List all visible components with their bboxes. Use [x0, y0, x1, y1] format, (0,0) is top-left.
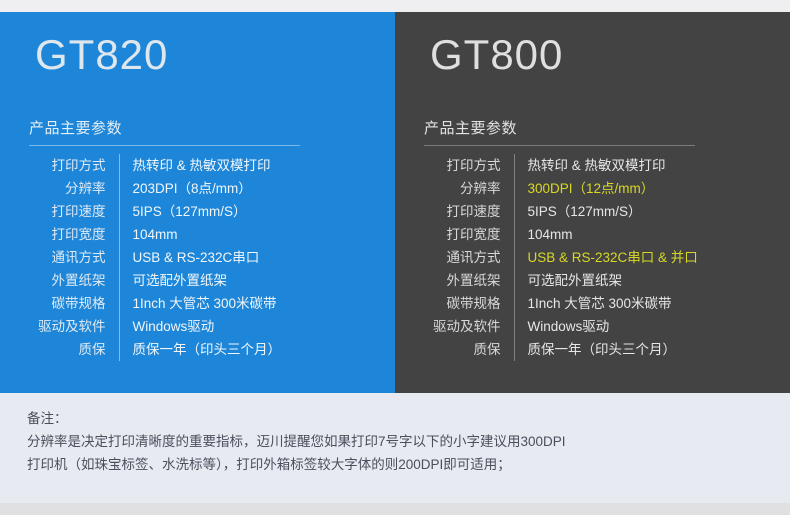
spec-row: 通讯方式USB & RS-232C串口 & 并口: [424, 246, 764, 269]
spec-value: USB & RS-232C串口: [119, 246, 369, 269]
notes-body: 备注： 分辨率是决定打印清晰度的重要指标，迈川提醒您如果打印7号字以下的小字建议…: [27, 407, 566, 476]
spec-row: 外置纸架可选配外置纸架: [424, 269, 764, 292]
spec-key: 分辨率: [424, 177, 514, 200]
spec-key: 通讯方式: [29, 246, 119, 269]
comparison-spec-page: GT820 产品主要参数 打印方式热转印 & 热敏双模打印分辨率203DPI（8…: [0, 0, 790, 515]
spec-row: 质保质保一年（印头三个月）: [424, 338, 764, 361]
spec-key: 打印速度: [424, 200, 514, 223]
spec-row: 分辨率203DPI（8点/mm）: [29, 177, 369, 200]
spec-key: 驱动及软件: [424, 315, 514, 338]
spec-value: 1Inch 大管芯 300米碳带: [514, 292, 764, 315]
spec-value: 可选配外置纸架: [119, 269, 369, 292]
spec-row: 外置纸架可选配外置纸架: [29, 269, 369, 292]
spec-key: 外置纸架: [29, 269, 119, 292]
spec-key: 外置纸架: [424, 269, 514, 292]
notes-section: 迈川条码 盗图必究 备注： 分辨率是决定打印清晰度的重要指标，迈川提醒您如果打印…: [0, 393, 790, 503]
spec-row: 通讯方式USB & RS-232C串口: [29, 246, 369, 269]
spec-row: 分辨率300DPI（12点/mm）: [424, 177, 764, 200]
spec-key: 分辨率: [29, 177, 119, 200]
spec-row: 打印宽度104mm: [424, 223, 764, 246]
spec-value: 可选配外置纸架: [514, 269, 764, 292]
spec-value: 5IPS（127mm/S）: [119, 200, 369, 223]
spec-row: 驱动及软件Windows驱动: [29, 315, 369, 338]
spec-key: 打印宽度: [29, 223, 119, 246]
spec-key: 质保: [29, 338, 119, 361]
panel-gt820: GT820 产品主要参数 打印方式热转印 & 热敏双模打印分辨率203DPI（8…: [0, 12, 395, 393]
panel-gt800: 迈川条码 盗图必究 迈川条码 盗图必究 迈川条码 盗图必究 迈川条码 盗图必究 …: [395, 12, 790, 393]
spec-value: 热转印 & 热敏双模打印: [514, 154, 764, 177]
spec-key: 碳带规格: [424, 292, 514, 315]
spec-value: 热转印 & 热敏双模打印: [119, 154, 369, 177]
spec-value: Windows驱动: [119, 315, 369, 338]
spec-value: USB & RS-232C串口 & 并口: [514, 246, 764, 269]
spec-key: 驱动及软件: [29, 315, 119, 338]
spec-table-gt800: 打印方式热转印 & 热敏双模打印分辨率300DPI（12点/mm）打印速度5IP…: [424, 154, 764, 361]
spec-key: 打印宽度: [424, 223, 514, 246]
spec-key: 质保: [424, 338, 514, 361]
bottom-edge-strip: [0, 503, 790, 515]
spec-value: Windows驱动: [514, 315, 764, 338]
spec-row: 打印速度5IPS（127mm/S）: [424, 200, 764, 223]
spec-value: 300DPI（12点/mm）: [514, 177, 764, 200]
spec-row: 驱动及软件Windows驱动: [424, 315, 764, 338]
spec-row: 碳带规格1Inch 大管芯 300米碳带: [29, 292, 369, 315]
spec-value: 203DPI（8点/mm）: [119, 177, 369, 200]
spec-value: 质保一年（印头三个月）: [514, 338, 764, 361]
spec-table-gt820: 打印方式热转印 & 热敏双模打印分辨率203DPI（8点/mm）打印速度5IPS…: [29, 154, 369, 361]
spec-key: 打印方式: [29, 154, 119, 177]
section-divider-gt800: [424, 145, 695, 146]
notes-heading: 备注：: [27, 407, 566, 430]
top-strip: [0, 0, 790, 12]
notes-line-1: 分辨率是决定打印清晰度的重要指标，迈川提醒您如果打印7号字以下的小字建议用300…: [27, 430, 566, 453]
section-divider-gt820: [29, 145, 300, 146]
spec-value: 1Inch 大管芯 300米碳带: [119, 292, 369, 315]
spec-row: 打印方式热转印 & 热敏双模打印: [29, 154, 369, 177]
spec-row: 打印宽度104mm: [29, 223, 369, 246]
spec-key: 碳带规格: [29, 292, 119, 315]
spec-key: 打印速度: [29, 200, 119, 223]
panels-container: GT820 产品主要参数 打印方式热转印 & 热敏双模打印分辨率203DPI（8…: [0, 12, 790, 393]
model-title-gt820: GT820: [35, 34, 168, 76]
spec-row: 碳带规格1Inch 大管芯 300米碳带: [424, 292, 764, 315]
spec-value: 104mm: [514, 223, 764, 246]
spec-value: 质保一年（印头三个月）: [119, 338, 369, 361]
spec-key: 打印方式: [424, 154, 514, 177]
section-title-gt800: 产品主要参数: [424, 117, 517, 138]
spec-value: 104mm: [119, 223, 369, 246]
spec-row: 打印速度5IPS（127mm/S）: [29, 200, 369, 223]
spec-key: 通讯方式: [424, 246, 514, 269]
section-title-gt820: 产品主要参数: [29, 117, 122, 138]
model-title-gt800: GT800: [430, 34, 563, 76]
spec-row: 打印方式热转印 & 热敏双模打印: [424, 154, 764, 177]
spec-row: 质保质保一年（印头三个月）: [29, 338, 369, 361]
notes-line-2: 打印机（如珠宝标签、水洗标等），打印外箱标签较大字体的则200DPI即可适用；: [27, 453, 566, 476]
spec-value: 5IPS（127mm/S）: [514, 200, 764, 223]
